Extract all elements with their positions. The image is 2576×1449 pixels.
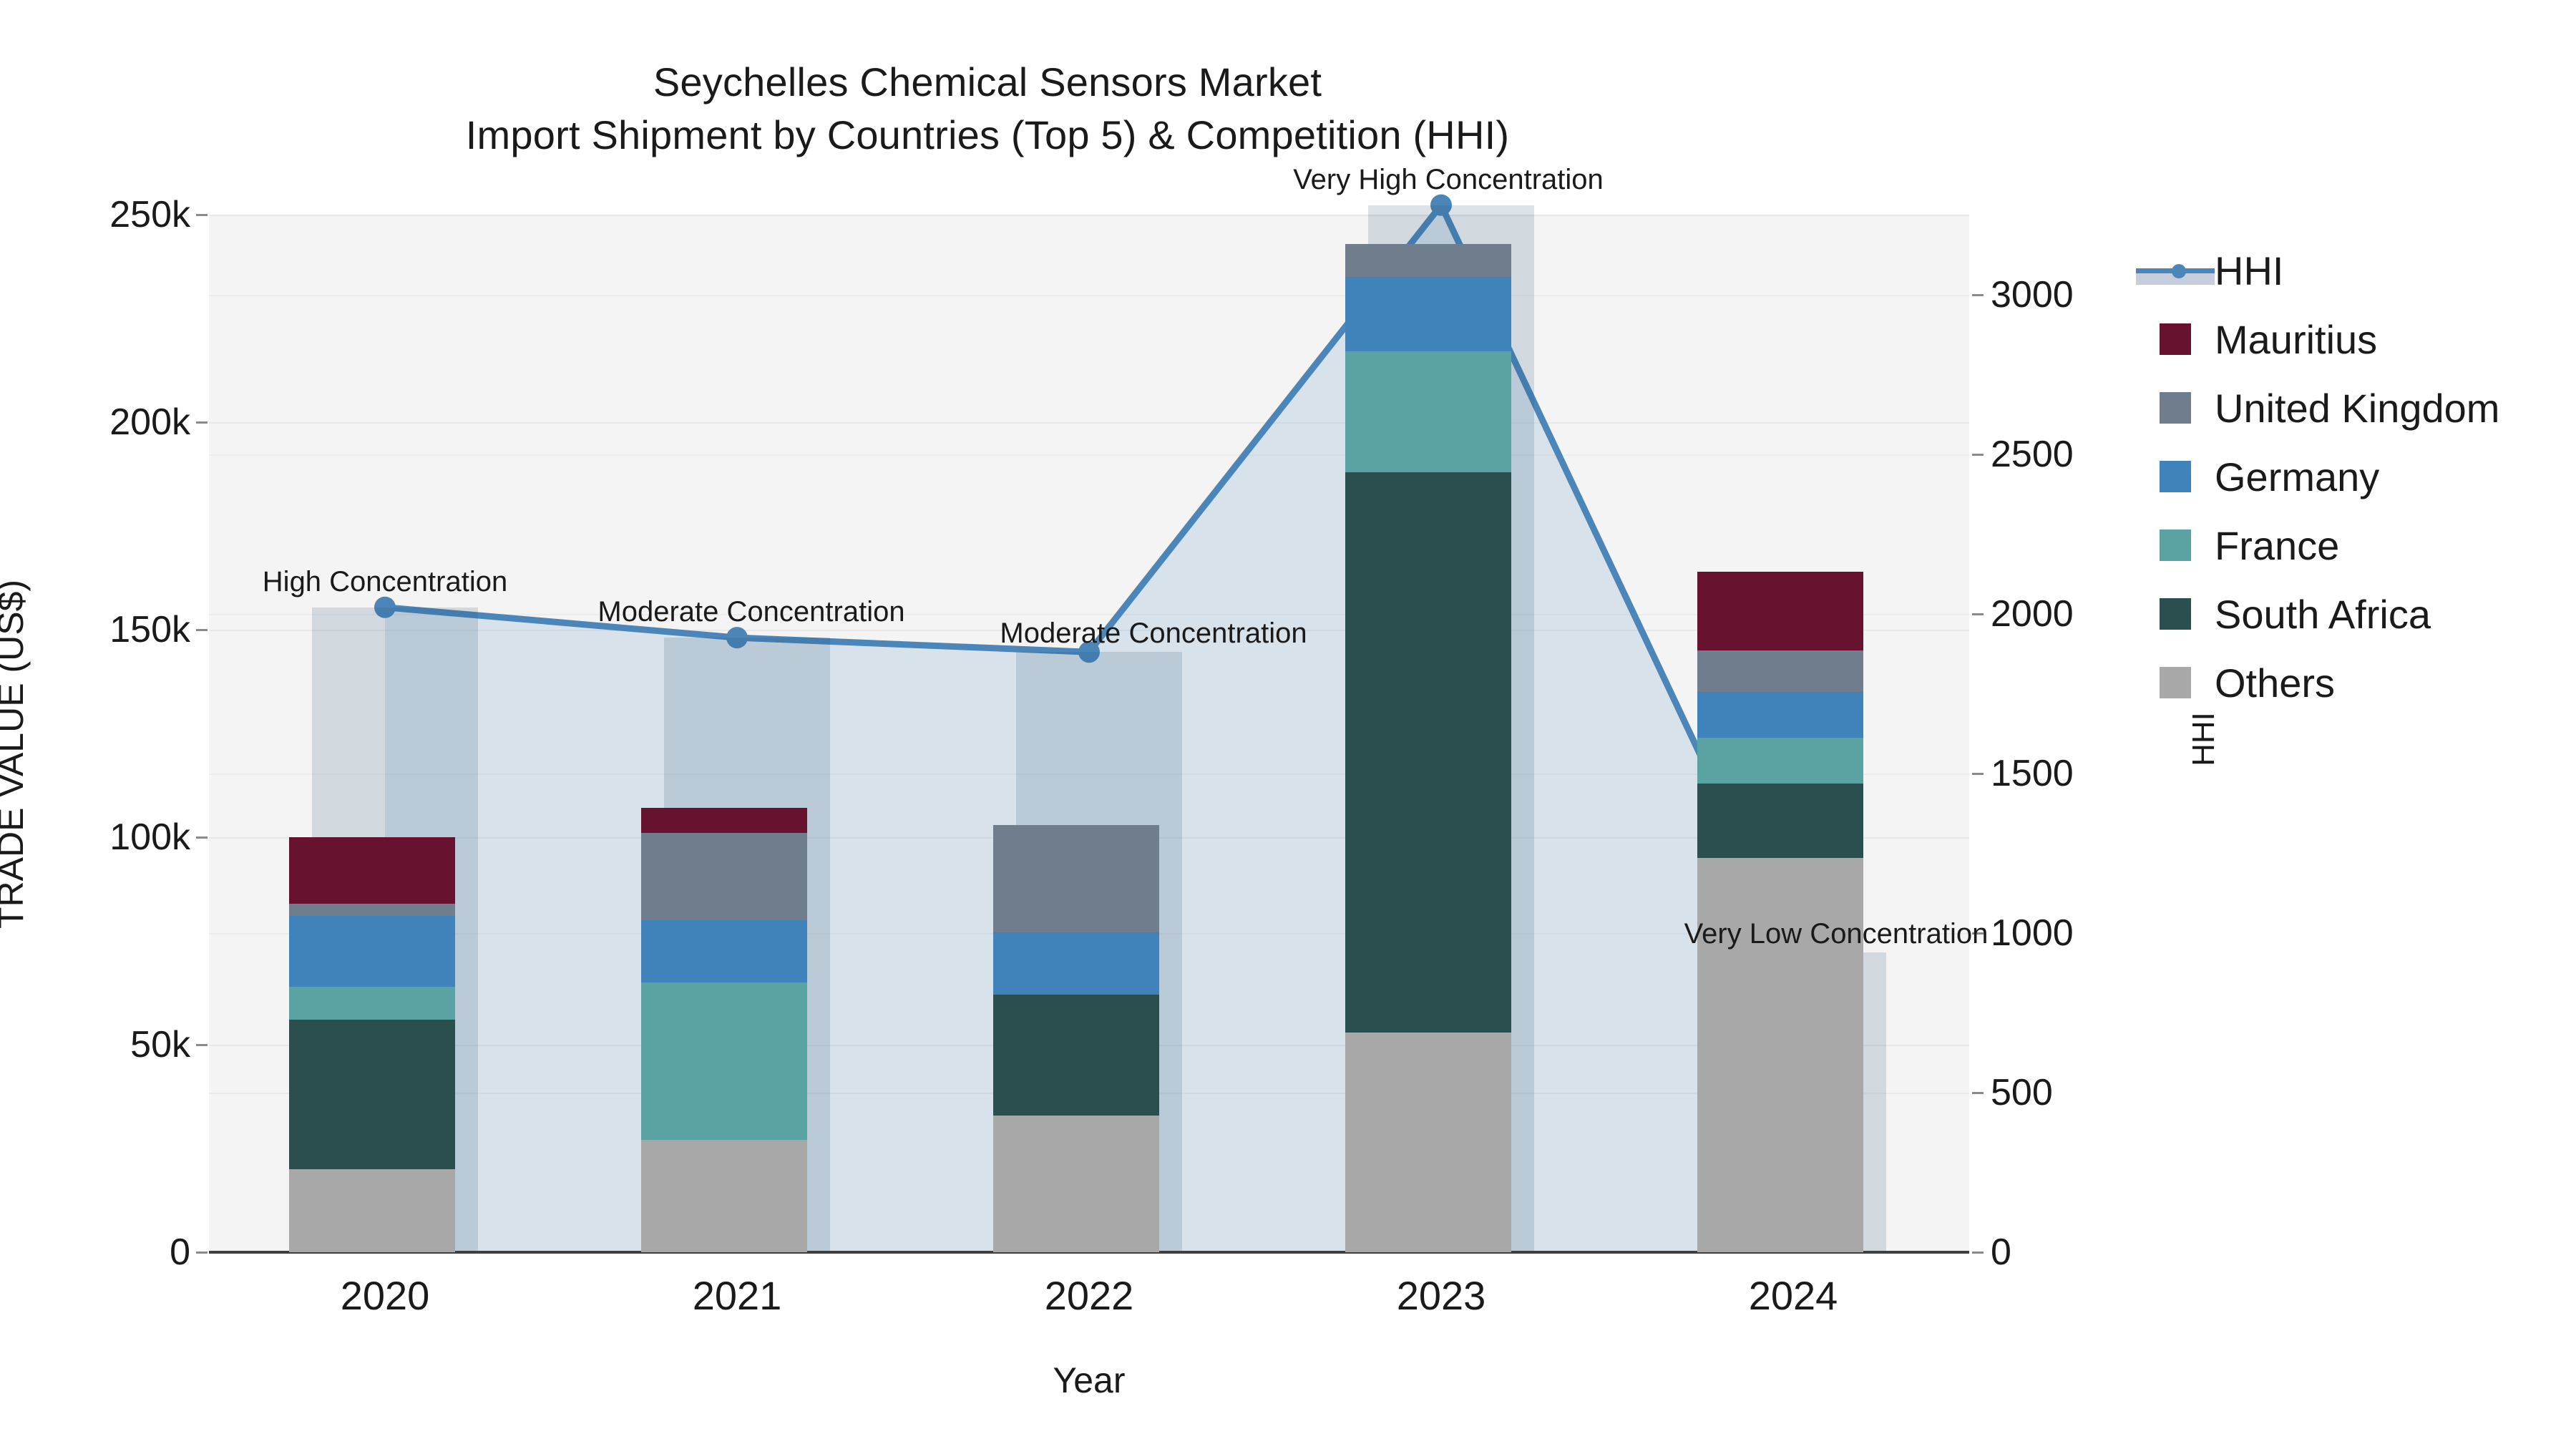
bar-segment[interactable] bbox=[641, 1140, 807, 1252]
y-axis-tick-right: 0 bbox=[1991, 1231, 2177, 1274]
legend-item[interactable]: France bbox=[2136, 511, 2565, 580]
bar-segment[interactable] bbox=[289, 1020, 455, 1169]
bar-segment[interactable] bbox=[993, 825, 1159, 933]
y-tick-mark-right bbox=[1972, 773, 1984, 775]
y-tick-mark-left bbox=[196, 214, 208, 216]
hhi-annotation: Very High Concentration bbox=[1293, 164, 1604, 196]
bar-segment[interactable] bbox=[993, 995, 1159, 1115]
y-axis-tick-right: 3000 bbox=[1991, 273, 2177, 316]
bar-segment[interactable] bbox=[993, 932, 1159, 995]
hhi-annotation: High Concentration bbox=[263, 566, 507, 598]
bar-segment[interactable] bbox=[1697, 692, 1863, 738]
legend-item-label: South Africa bbox=[2215, 591, 2431, 638]
legend-item[interactable]: Mauritius bbox=[2136, 305, 2565, 374]
bar-segment[interactable] bbox=[641, 920, 807, 982]
bar-segment[interactable] bbox=[1345, 472, 1511, 1033]
bar-segment[interactable] bbox=[289, 837, 455, 904]
legend-color-swatch bbox=[2160, 323, 2191, 355]
x-axis-tick: 2020 bbox=[341, 1272, 430, 1319]
bar-segment[interactable] bbox=[1345, 351, 1511, 472]
legend-item-label: Germany bbox=[2215, 454, 2379, 500]
x-axis-tick: 2024 bbox=[1749, 1272, 1838, 1319]
y-axis-tick-left: 100k bbox=[11, 816, 190, 859]
y-axis-tick-right: 1500 bbox=[1991, 752, 2177, 795]
legend-item-label: HHI bbox=[2215, 248, 2283, 294]
y-tick-mark-left bbox=[196, 1252, 208, 1254]
y-tick-mark-right bbox=[1972, 294, 1984, 296]
bar-segment[interactable] bbox=[1697, 784, 1863, 858]
hhi-annotation: Moderate Concentration bbox=[597, 596, 904, 628]
y-tick-mark-right bbox=[1972, 454, 1984, 456]
bar-segment[interactable] bbox=[289, 987, 455, 1020]
y-axis-tick-left: 200k bbox=[11, 401, 190, 444]
bar-segment[interactable] bbox=[289, 904, 455, 916]
hhi-annotation: Moderate Concentration bbox=[1000, 618, 1307, 650]
legend-item[interactable]: Germany bbox=[2136, 442, 2565, 511]
bar-segment[interactable] bbox=[641, 833, 807, 920]
bar-segment[interactable] bbox=[1697, 572, 1863, 650]
y-axis-tick-right: 500 bbox=[1991, 1071, 2177, 1114]
hhi-annotation: Very Low Concentration bbox=[1684, 918, 1989, 950]
y-tick-mark-left bbox=[196, 1044, 208, 1046]
y-axis-tick-left: 250k bbox=[11, 193, 190, 236]
x-axis-label: Year bbox=[209, 1360, 1969, 1401]
bar-segment[interactable] bbox=[289, 916, 455, 987]
legend-item-label: France bbox=[2215, 522, 2339, 569]
chart-subtitle: Import Shipment by Countries (Top 5) & C… bbox=[0, 109, 1975, 162]
legend-color-swatch bbox=[2160, 667, 2191, 698]
x-axis-tick: 2021 bbox=[693, 1272, 782, 1319]
legend-item[interactable]: HHI bbox=[2136, 236, 2565, 305]
bar-segment[interactable] bbox=[1697, 738, 1863, 784]
x-axis-tick: 2022 bbox=[1045, 1272, 1134, 1319]
bar-segment[interactable] bbox=[993, 1116, 1159, 1252]
legend-item-label: United Kingdom bbox=[2215, 385, 2499, 431]
bar-segment[interactable] bbox=[1345, 244, 1511, 277]
page-title: Seychelles Chemical Sensors Market bbox=[0, 56, 1975, 109]
bar-segment[interactable] bbox=[641, 982, 807, 1140]
chart-title-block: Seychelles Chemical Sensors Market Impor… bbox=[0, 56, 1975, 162]
legend-color-swatch bbox=[2160, 530, 2191, 561]
legend-item-label: Others bbox=[2215, 660, 2335, 706]
legend-item[interactable]: United Kingdom bbox=[2136, 374, 2565, 442]
bar-segment[interactable] bbox=[1345, 277, 1511, 351]
y-axis-tick-right: 2000 bbox=[1991, 592, 2177, 635]
y-axis-tick-right: 2500 bbox=[1991, 433, 2177, 476]
bar-segment[interactable] bbox=[1697, 650, 1863, 692]
x-axis-tick: 2023 bbox=[1397, 1272, 1486, 1319]
y-tick-mark-right bbox=[1972, 1252, 1984, 1254]
bar-segment[interactable] bbox=[1345, 1033, 1511, 1252]
legend-color-swatch bbox=[2160, 392, 2191, 424]
y-tick-mark-right bbox=[1972, 1092, 1984, 1094]
y-axis-tick-right: 1000 bbox=[1991, 912, 2177, 955]
chart-root: Seychelles Chemical Sensors Market Impor… bbox=[0, 0, 2576, 1449]
bar-segment[interactable] bbox=[289, 1169, 455, 1252]
legend-item[interactable]: South Africa bbox=[2136, 580, 2565, 648]
legend-item-label: Mauritius bbox=[2215, 316, 2377, 363]
y-tick-mark-left bbox=[196, 629, 208, 631]
y-tick-mark-left bbox=[196, 421, 208, 424]
legend-item[interactable]: Others bbox=[2136, 648, 2565, 717]
y-axis-tick-left: 0 bbox=[11, 1231, 190, 1274]
bar-segment[interactable] bbox=[641, 808, 807, 833]
legend: HHIMauritiusUnited KingdomGermanyFranceS… bbox=[2136, 236, 2565, 717]
y-tick-mark-right bbox=[1972, 613, 1984, 615]
y-axis-tick-left: 50k bbox=[11, 1023, 190, 1066]
y-tick-mark-left bbox=[196, 836, 208, 839]
y-axis-tick-left: 150k bbox=[11, 608, 190, 651]
